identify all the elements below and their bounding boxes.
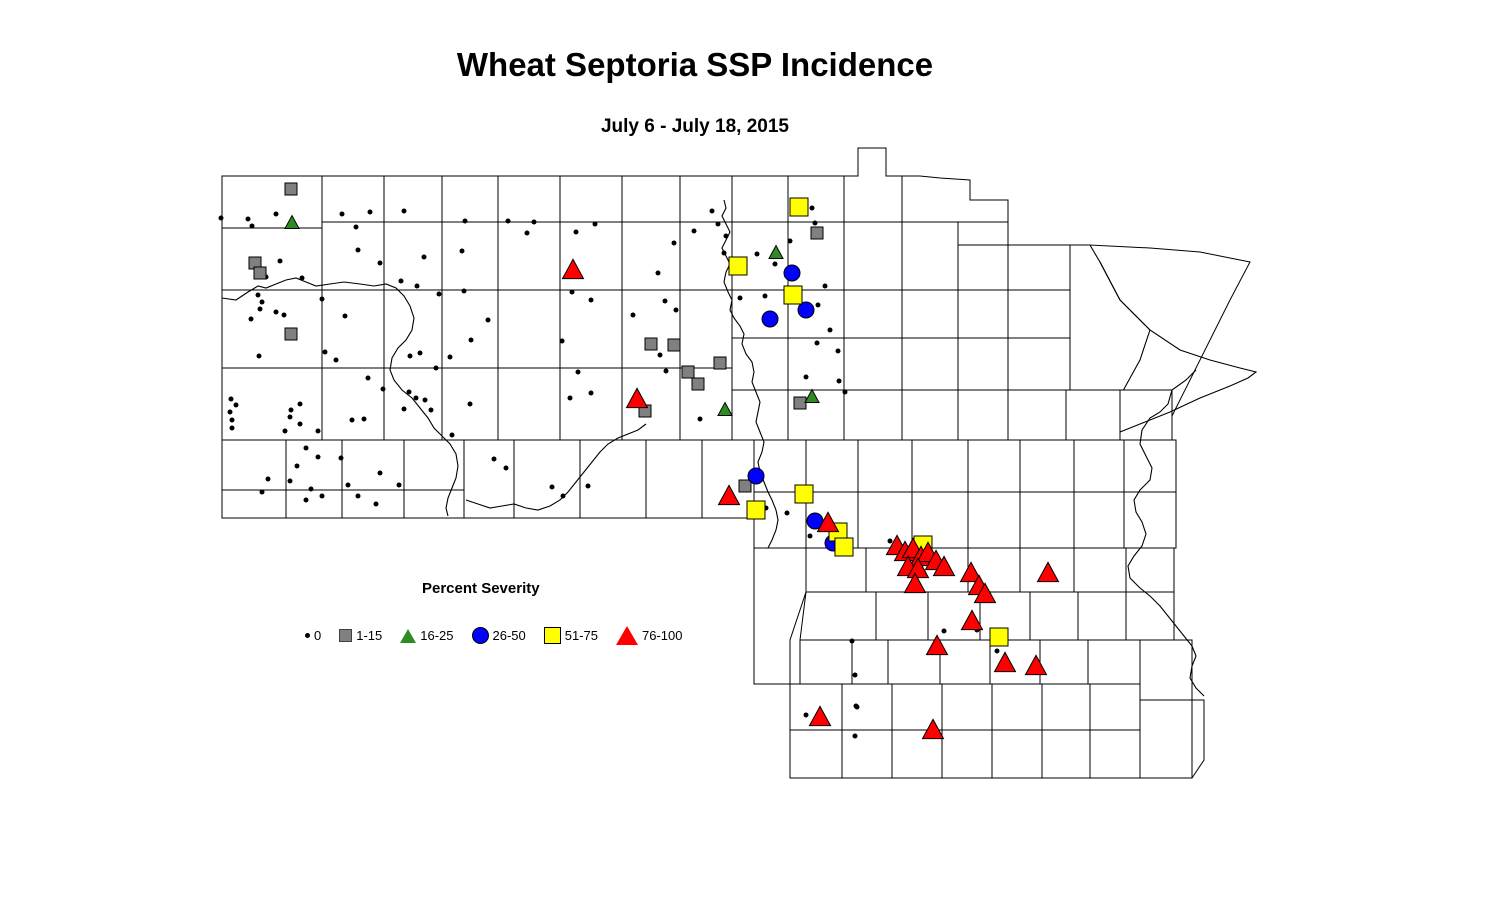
map-symbol-0 <box>738 296 743 301</box>
map-symbol-0 <box>763 294 768 299</box>
legend-title: Percent Severity <box>422 580 540 597</box>
map-symbol-0 <box>274 212 279 217</box>
map-symbol-0 <box>418 351 423 356</box>
map-symbol-51-75 <box>835 538 853 556</box>
map-symbol-0 <box>828 328 833 333</box>
map-symbol-0 <box>249 317 254 322</box>
map-canvas <box>0 0 1503 900</box>
map-symbol-0 <box>506 219 511 224</box>
map-symbol-0 <box>698 417 703 422</box>
map-symbol-0 <box>283 429 288 434</box>
map-symbol-0 <box>568 396 573 401</box>
map-symbol-0 <box>888 539 893 544</box>
map-symbol-0 <box>274 310 279 315</box>
map-symbol-0 <box>298 402 303 407</box>
map-symbol-0 <box>560 339 565 344</box>
map-symbol-26-50 <box>784 265 800 281</box>
legend-label-16-25: 16-25 <box>420 628 453 643</box>
map-symbol-0 <box>423 398 428 403</box>
legend-item-16-25: 16-25 <box>400 628 453 643</box>
map-symbol-0 <box>339 456 344 461</box>
map-symbol-0 <box>256 293 261 298</box>
map-symbol-0 <box>469 338 474 343</box>
map-symbol-1-15 <box>645 338 657 350</box>
map-symbol-0 <box>257 354 262 359</box>
map-svg <box>0 0 1503 900</box>
map-symbol-0 <box>350 418 355 423</box>
map-symbol-0 <box>532 220 537 225</box>
map-symbol-0 <box>316 455 321 460</box>
red-triangle-icon <box>616 626 638 645</box>
map-symbol-0 <box>429 408 434 413</box>
map-symbol-0 <box>716 222 721 227</box>
map-symbol-0 <box>850 639 855 644</box>
map-symbol-51-75 <box>729 257 747 275</box>
map-symbol-0 <box>463 219 468 224</box>
map-symbol-0 <box>260 490 265 495</box>
map-symbol-0 <box>663 299 668 304</box>
map-symbol-0 <box>402 407 407 412</box>
map-symbol-0 <box>228 410 233 415</box>
map-symbol-0 <box>460 249 465 254</box>
map-symbol-0 <box>346 483 351 488</box>
map-symbol-0 <box>855 705 860 710</box>
map-symbol-0 <box>356 248 361 253</box>
legend-label-26-50: 26-50 <box>493 628 526 643</box>
map-symbol-0 <box>230 418 235 423</box>
map-symbol-0 <box>334 358 339 363</box>
legend-label-51-75: 51-75 <box>565 628 598 643</box>
map-symbol-0 <box>397 483 402 488</box>
legend-item-76-100: 76-100 <box>616 626 682 645</box>
map-symbol-0 <box>230 426 235 431</box>
map-symbol-0 <box>356 494 361 499</box>
legend-item-51-75: 51-75 <box>544 627 598 644</box>
map-symbol-1-15 <box>692 378 704 390</box>
map-symbol-0 <box>437 292 442 297</box>
map-symbol-0 <box>408 354 413 359</box>
map-symbol-0 <box>320 297 325 302</box>
map-symbol-0 <box>813 221 818 226</box>
map-symbol-0 <box>722 251 727 256</box>
map-symbol-0 <box>288 415 293 420</box>
legend: 0 1-15 16-25 26-50 51-75 76-100 <box>305 626 701 645</box>
map-symbol-0 <box>309 487 314 492</box>
map-symbol-0 <box>289 408 294 413</box>
map-symbol-0 <box>631 313 636 318</box>
map-symbol-0 <box>414 396 419 401</box>
map-symbol-0 <box>593 222 598 227</box>
map-symbol-0 <box>755 252 760 257</box>
map-symbol-0 <box>710 209 715 214</box>
map-symbol-0 <box>316 429 321 434</box>
map-symbol-1-15 <box>739 480 751 492</box>
map-symbol-0 <box>295 464 300 469</box>
map-symbol-0 <box>374 502 379 507</box>
map-symbol-0 <box>422 255 427 260</box>
map-symbol-0 <box>468 402 473 407</box>
map-symbol-0 <box>995 649 1000 654</box>
map-symbol-51-75 <box>790 198 808 216</box>
map-symbol-0 <box>674 308 679 313</box>
map-symbol-0 <box>658 353 663 358</box>
blue-circle-icon <box>472 627 489 644</box>
map-symbol-0 <box>304 498 309 503</box>
map-symbol-0 <box>362 417 367 422</box>
map-symbol-0 <box>448 355 453 360</box>
map-symbol-51-75 <box>784 286 802 304</box>
yellow-square-icon <box>544 627 561 644</box>
map-symbol-0 <box>837 379 842 384</box>
map-symbol-0 <box>368 210 373 215</box>
map-symbol-0 <box>773 262 778 267</box>
map-symbol-26-50 <box>762 311 778 327</box>
map-symbol-0 <box>853 673 858 678</box>
map-symbol-0 <box>589 298 594 303</box>
map-symbol-51-75 <box>990 628 1008 646</box>
legend-label-1-15: 1-15 <box>356 628 382 643</box>
green-triangle-icon <box>400 629 416 643</box>
map-symbol-0 <box>525 231 530 236</box>
map-symbol-0 <box>304 446 309 451</box>
map-symbol-0 <box>823 284 828 289</box>
legend-item-0: 0 <box>305 628 321 643</box>
map-symbol-0 <box>282 313 287 318</box>
legend-label-76-100: 76-100 <box>642 628 682 643</box>
map-symbol-0 <box>320 494 325 499</box>
map-symbol-0 <box>323 350 328 355</box>
map-symbol-1-15 <box>254 267 266 279</box>
map-symbol-0 <box>450 433 455 438</box>
map-symbol-0 <box>343 314 348 319</box>
map-symbol-0 <box>810 206 815 211</box>
map-symbol-0 <box>692 229 697 234</box>
map-symbol-0 <box>378 471 383 476</box>
map-symbol-0 <box>550 485 555 490</box>
map-symbol-0 <box>853 734 858 739</box>
map-symbol-26-50 <box>748 468 764 484</box>
map-symbol-0 <box>570 290 575 295</box>
map-symbol-0 <box>258 307 263 312</box>
map-symbol-51-75 <box>747 501 765 519</box>
map-symbol-0 <box>246 217 251 222</box>
map-symbol-0 <box>234 403 239 408</box>
legend-item-26-50: 26-50 <box>472 627 526 644</box>
map-symbol-0 <box>381 387 386 392</box>
map-symbol-0 <box>462 289 467 294</box>
map-symbol-1-15 <box>682 366 694 378</box>
map-symbol-0 <box>250 224 255 229</box>
legend-label-0: 0 <box>314 628 321 643</box>
map-symbol-0 <box>836 349 841 354</box>
map-symbol-0 <box>724 234 729 239</box>
map-symbol-0 <box>664 369 669 374</box>
map-symbol-0 <box>298 422 303 427</box>
map-symbol-0 <box>434 366 439 371</box>
map-symbol-0 <box>672 241 677 246</box>
map-symbol-1-15 <box>794 397 806 409</box>
map-figure: Wheat Septoria SSP Incidence July 6 - Ju… <box>0 0 1503 900</box>
map-symbol-0 <box>788 239 793 244</box>
map-symbol-0 <box>354 225 359 230</box>
map-symbol-0 <box>843 390 848 395</box>
map-symbol-0 <box>589 391 594 396</box>
map-symbol-0 <box>278 259 283 264</box>
map-symbol-0 <box>942 629 947 634</box>
map-symbol-0 <box>785 511 790 516</box>
map-symbol-0 <box>399 279 404 284</box>
map-symbol-0 <box>402 209 407 214</box>
map-symbol-0 <box>229 397 234 402</box>
map-symbol-1-15 <box>285 328 297 340</box>
map-symbol-0 <box>808 534 813 539</box>
map-symbol-0 <box>561 494 566 499</box>
map-symbol-0 <box>340 212 345 217</box>
county-boundaries <box>222 148 1250 778</box>
legend-item-1-15: 1-15 <box>339 628 382 643</box>
map-symbol-0 <box>656 271 661 276</box>
map-symbol-1-15 <box>668 339 680 351</box>
map-symbol-1-15 <box>285 183 297 195</box>
map-symbol-1-15 <box>714 357 726 369</box>
map-symbol-0 <box>288 479 293 484</box>
map-symbol-1-15 <box>811 227 823 239</box>
map-symbol-0 <box>504 466 509 471</box>
map-symbol-0 <box>586 484 591 489</box>
map-symbol-0 <box>260 300 265 305</box>
map-symbol-0 <box>266 477 271 482</box>
map-symbol-0 <box>816 303 821 308</box>
map-symbol-0 <box>378 261 383 266</box>
map-symbol-0 <box>219 216 224 221</box>
map-symbol-0 <box>415 284 420 289</box>
map-symbol-0 <box>576 370 581 375</box>
gray-square-icon <box>339 629 352 642</box>
map-symbol-0 <box>804 375 809 380</box>
map-symbol-0 <box>300 276 305 281</box>
map-symbol-51-75 <box>795 485 813 503</box>
map-symbol-0 <box>815 341 820 346</box>
map-symbol-0 <box>574 230 579 235</box>
dot-icon <box>305 633 310 638</box>
map-symbol-0 <box>492 457 497 462</box>
map-symbol-0 <box>486 318 491 323</box>
map-symbol-0 <box>804 713 809 718</box>
map-symbol-0 <box>366 376 371 381</box>
map-symbol-0 <box>407 390 412 395</box>
